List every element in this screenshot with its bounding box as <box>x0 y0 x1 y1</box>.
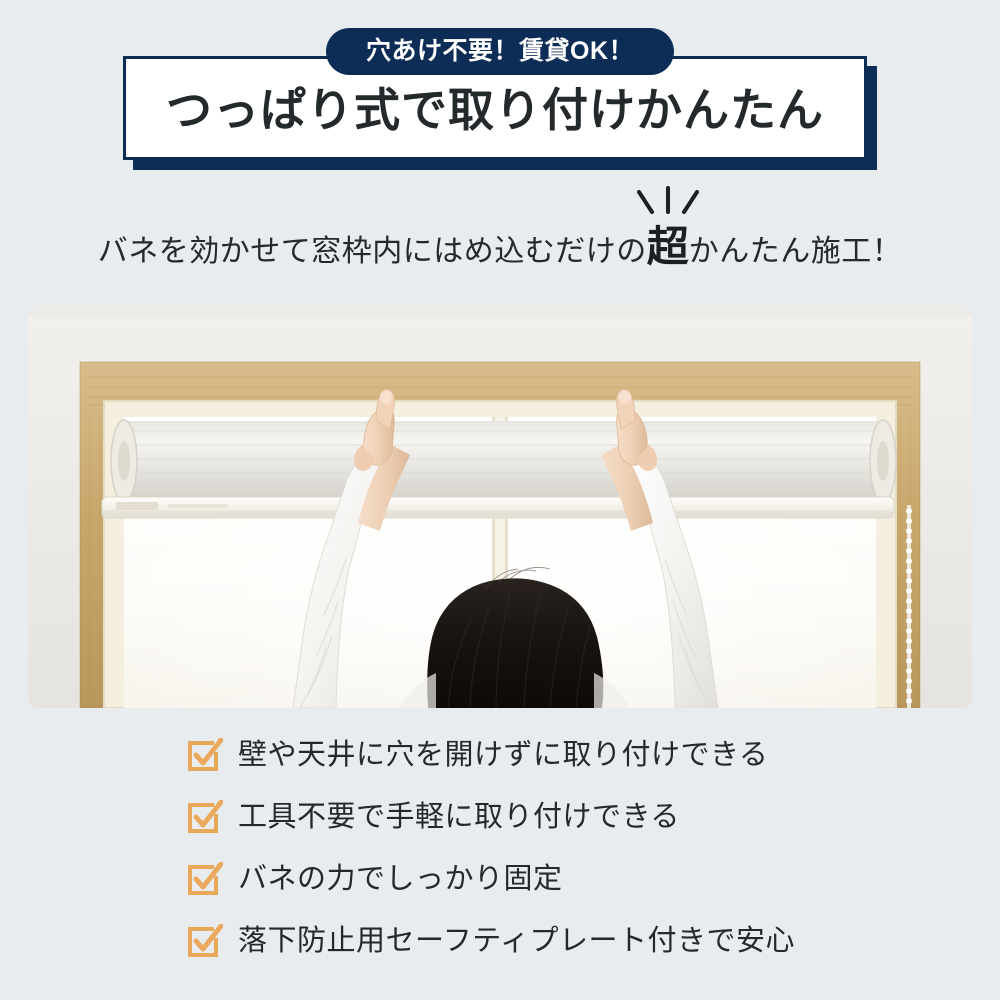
status-badge-label: 穴あけ不要！賃貸OK！ <box>366 39 634 64</box>
header-section: つっぱり式で取り付けかんたん 穴あけ不要！賃貸OK！ <box>0 0 1000 185</box>
list-item-label: 壁や天井に穴を開けずに取り付けできる <box>238 741 768 770</box>
checkbox-checked-icon <box>187 924 223 958</box>
product-feature-panel: つっぱり式で取り付けかんたん 穴あけ不要！賃貸OK！ バネを効かせて窓枠内にはめ… <box>0 0 1000 1000</box>
checkbox-checked-icon <box>187 800 223 834</box>
status-badge: 穴あけ不要！賃貸OK！ <box>326 28 674 75</box>
checkbox-checked-icon <box>187 862 223 896</box>
subtitle-section: バネを効かせて窓枠内にはめ込むだけの 超 かんたん施工！ <box>0 195 1000 290</box>
subtitle-text-before: バネを効かせて窓枠内にはめ込むだけの <box>98 237 647 267</box>
subtitle-text-after: かんたん施工！ <box>689 237 903 267</box>
list-item: 工具不要で手軽に取り付けできる <box>0 786 1000 848</box>
sparkle-icon <box>631 186 705 222</box>
subtitle-emphasis-wrap: 超 <box>647 226 689 268</box>
list-item-label: 落下防止用セーフティプレート付きで安心 <box>238 927 795 956</box>
list-item: バネの力でしっかり固定 <box>0 848 1000 910</box>
list-item-label: 工具不要で手軽に取り付けできる <box>238 803 680 832</box>
feature-checklist: 壁や天井に穴を開けずに取り付けできる 工具不要で手軽に取り付けできる バネの力で… <box>0 724 1000 972</box>
product-installation-photo <box>28 305 972 708</box>
list-item: 壁や天井に穴を開けずに取り付けできる <box>0 724 1000 786</box>
checkbox-checked-icon <box>187 738 223 772</box>
list-item-label: バネの力でしっかり固定 <box>238 865 563 894</box>
list-item: 落下防止用セーフティプレート付きで安心 <box>0 910 1000 972</box>
subtitle-emphasis: 超 <box>647 223 689 270</box>
page-title: つっぱり式で取り付けかんたん <box>166 87 824 133</box>
subtitle: バネを効かせて窓枠内にはめ込むだけの 超 かんたん施工！ <box>98 226 903 290</box>
